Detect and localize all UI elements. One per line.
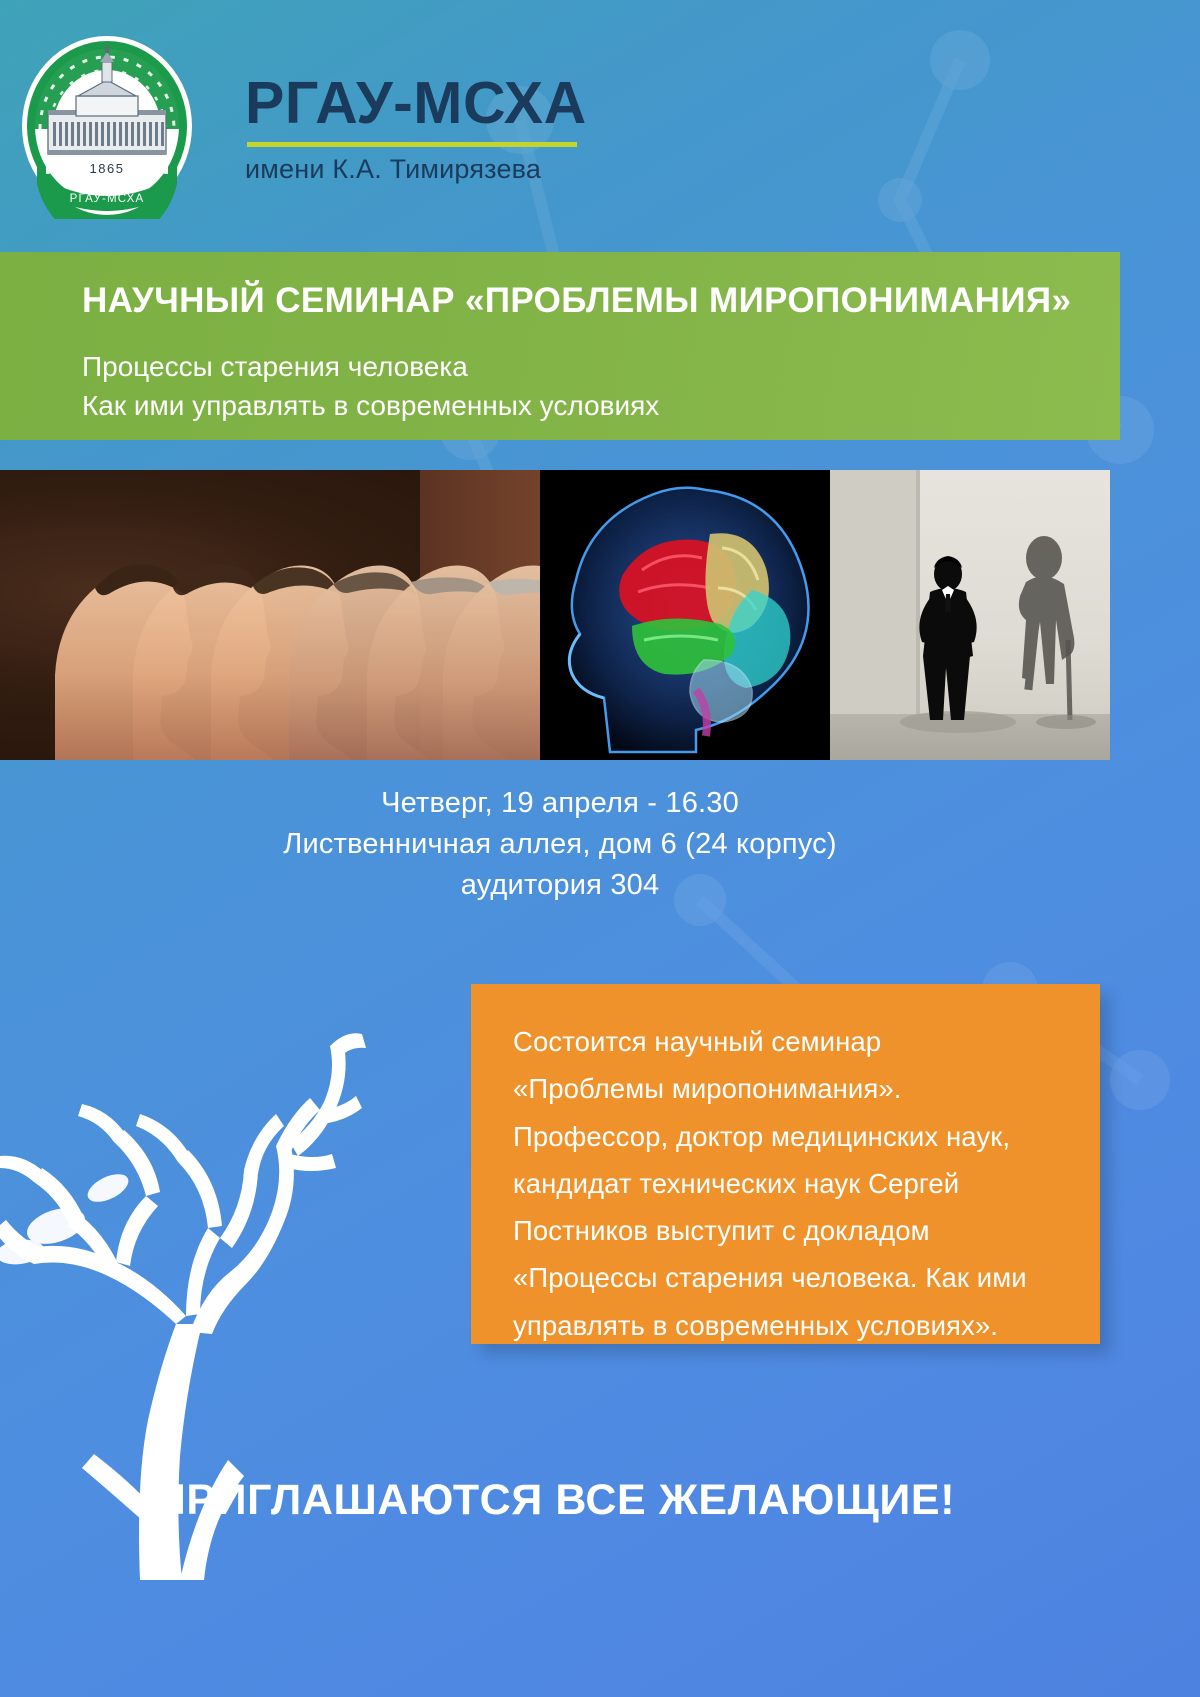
colored-brain-photo bbox=[540, 470, 830, 760]
description-line-1: Состоится научный семинар bbox=[513, 1018, 1066, 1065]
call-to-action-text: ПРИГЛАШАЮТСЯ ВСЕ ЖЕЛАЮЩИЕ! bbox=[0, 1476, 1110, 1525]
description-line-5: Постников выступит с докладом bbox=[513, 1207, 1066, 1254]
event-room: аудитория 304 bbox=[0, 865, 1120, 906]
description-line-7: управлять в современных условиях». bbox=[513, 1302, 1066, 1349]
aging-faces-photo bbox=[0, 470, 540, 760]
logo-ribbon-text: РГАУ-МСХА bbox=[70, 193, 145, 205]
rgau-mscha-emblem-icon: 1865 РГАУ-МСХА bbox=[20, 34, 195, 219]
photo-strip bbox=[0, 470, 1110, 760]
brand-title: РГАУ-МСХА bbox=[245, 74, 587, 133]
description-text: Состоится научный семинар «Проблемы миро… bbox=[513, 1018, 1066, 1349]
event-details-block: Четверг, 19 апреля - 16.30 Лиственничная… bbox=[0, 783, 1120, 907]
seminar-title: НАУЧНЫЙ СЕМИНАР «ПРОБЛЕМЫ МИРОПОНИМАНИЯ» bbox=[82, 282, 1080, 321]
seminar-subtitle-line-2: Как ими управлять в современных условиях bbox=[82, 386, 1080, 426]
description-line-2: «Проблемы миропонимания». bbox=[513, 1065, 1066, 1112]
event-address: Лиственничная аллея, дом 6 (24 корпус) bbox=[0, 824, 1120, 865]
logo-year-text: 1865 bbox=[90, 161, 125, 176]
seminar-subtitle: Процессы старения человека Как ими управ… bbox=[82, 347, 1080, 427]
poster-root: 1865 РГАУ-МСХА РГАУ-МСХА имени К.А. Тими… bbox=[0, 0, 1200, 1697]
brand-subtitle: имени К.А. Тимирязева bbox=[245, 155, 587, 185]
seminar-banner: НАУЧНЫЙ СЕМИНАР «ПРОБЛЕМЫ МИРОПОНИМАНИЯ»… bbox=[0, 252, 1120, 440]
event-date-time: Четверг, 19 апреля - 16.30 bbox=[0, 783, 1120, 824]
brand-block: РГАУ-МСХА имени К.А. Тимирязева bbox=[245, 68, 587, 185]
seminar-subtitle-line-1: Процессы старения человека bbox=[82, 347, 1080, 387]
description-line-3: Профессор, доктор медицинских наук, bbox=[513, 1113, 1066, 1160]
poster-header: 1865 РГАУ-МСХА РГАУ-МСХА имени К.А. Тими… bbox=[0, 0, 1120, 252]
description-line-4: кандидат технических наук Сергей bbox=[513, 1160, 1066, 1207]
man-with-elderly-shadow-photo bbox=[830, 470, 1110, 760]
description-box: Состоится научный семинар «Проблемы миро… bbox=[471, 984, 1100, 1344]
description-line-6: «Процессы старения человека. Как ими bbox=[513, 1254, 1066, 1301]
brand-divider bbox=[247, 142, 577, 147]
